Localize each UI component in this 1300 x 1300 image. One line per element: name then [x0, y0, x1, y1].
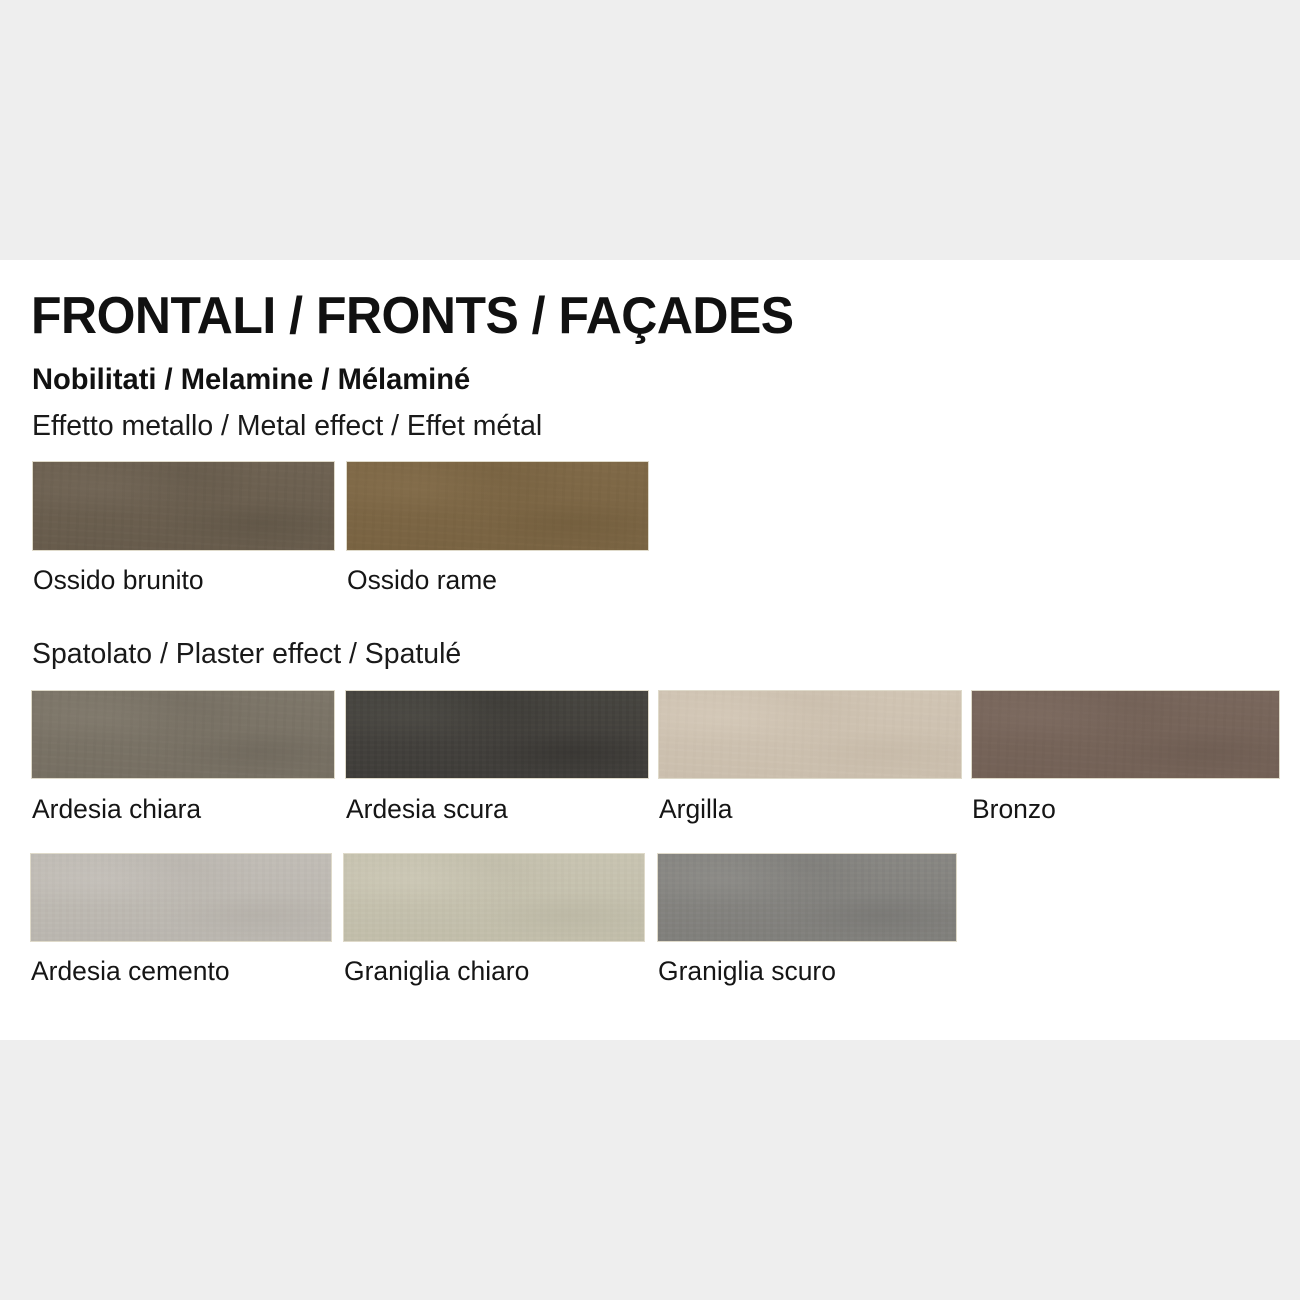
swatch-label-ossido-brunito: Ossido brunito	[33, 565, 204, 596]
swatch-label-graniglia-chiaro: Graniglia chiaro	[344, 956, 529, 987]
content-area: FRONTALI / FRONTS / FAÇADES Nobilitati /…	[0, 260, 1300, 1040]
swatch-ardesia-scura[interactable]	[345, 690, 649, 779]
swatch-texture	[344, 854, 644, 941]
swatch-texture	[31, 854, 331, 941]
swatch-label-graniglia-scuro: Graniglia scuro	[658, 956, 836, 987]
swatch-texture	[33, 462, 334, 550]
page: FRONTALI / FRONTS / FAÇADES Nobilitati /…	[0, 0, 1300, 1300]
swatch-label-ossido-rame: Ossido rame	[347, 565, 497, 596]
swatch-texture	[347, 462, 648, 550]
swatch-ardesia-chiara[interactable]	[31, 690, 335, 779]
page-subtitle: Nobilitati / Melamine / Mélaminé	[32, 363, 470, 397]
swatch-bronzo[interactable]	[971, 690, 1280, 779]
bottom-letterbox-band	[0, 1040, 1300, 1300]
swatch-ossido-rame[interactable]	[346, 461, 649, 551]
section-heading-metal-effect: Effetto metallo / Metal effect / Effet m…	[32, 410, 542, 443]
swatch-label-ardesia-scura: Ardesia scura	[346, 794, 508, 825]
swatch-label-bronzo: Bronzo	[972, 794, 1056, 825]
swatch-label-ardesia-cemento: Ardesia cemento	[31, 956, 230, 987]
swatch-ardesia-cemento[interactable]	[30, 853, 332, 942]
swatch-texture	[346, 691, 648, 778]
swatch-ossido-brunito[interactable]	[32, 461, 335, 551]
swatch-label-ardesia-chiara: Ardesia chiara	[32, 794, 201, 825]
swatch-argilla[interactable]	[658, 690, 962, 779]
section-heading-plaster-effect: Spatolato / Plaster effect / Spatulé	[32, 638, 461, 671]
swatch-texture	[658, 854, 956, 941]
swatch-graniglia-scuro[interactable]	[657, 853, 957, 942]
swatch-texture	[972, 691, 1279, 778]
swatch-texture	[659, 691, 961, 778]
swatch-texture	[32, 691, 334, 778]
page-title: FRONTALI / FRONTS / FAÇADES	[31, 286, 794, 346]
swatch-graniglia-chiaro[interactable]	[343, 853, 645, 942]
top-letterbox-band	[0, 0, 1300, 260]
swatch-label-argilla: Argilla	[659, 794, 733, 825]
